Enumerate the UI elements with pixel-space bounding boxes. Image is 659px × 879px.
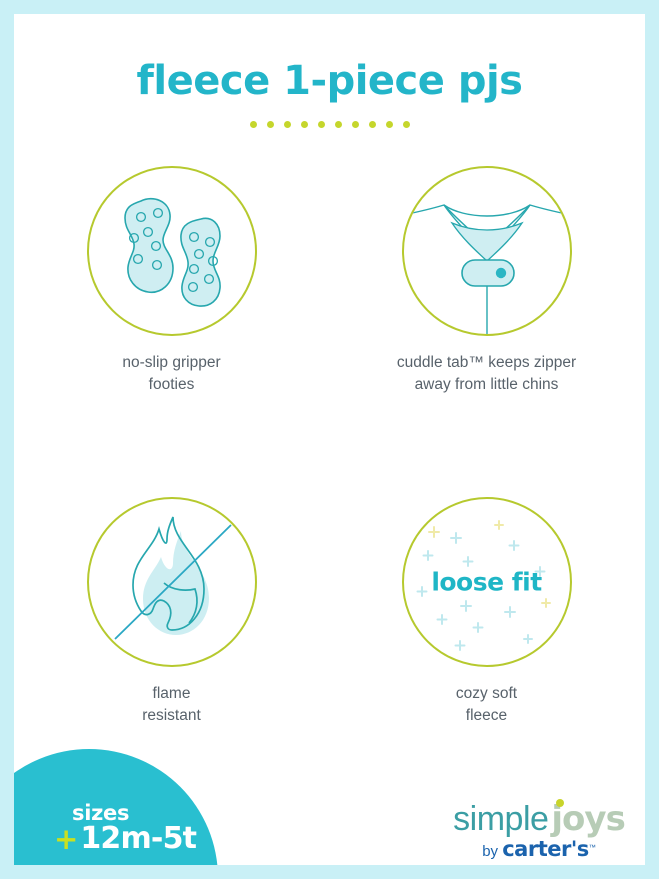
trademark-icon: ™ [589,845,596,852]
no-flame-icon [89,499,255,665]
divider-dot [403,121,410,128]
divider-dot [301,121,308,128]
feature-cozy-soft-fleece: loose fit cozy soft fleece [329,497,644,728]
logo-wordmark: simplejoys [453,802,625,836]
cuddle-tab-collar-icon [404,168,570,334]
sizes-value: 12m-5t [80,824,196,854]
gripper-footies-icon [89,168,255,334]
feature-cuddle-tab: cuddle tab™ keeps zipper away from littl… [329,166,644,397]
plus-icon: + [54,825,78,854]
logo-byline: by carter's™ [444,839,634,860]
divider-dot [369,121,376,128]
feature-caption: flame resistant [142,683,201,728]
divider-dot [386,121,393,128]
logo-carters-text: carter's [502,837,589,861]
feature-gripper-footies: no-slip gripper footies [14,166,329,397]
divider-dot [250,121,257,128]
logo-by-text: by [482,843,502,860]
sizes-badge-text: sizes + 12m-5t [54,801,224,854]
feature-row-top: no-slip gripper footies [14,166,645,397]
feature-flame-resistant: flame resistant [14,497,329,728]
divider-dot [267,121,274,128]
feature-icon-circle [87,166,257,336]
feature-caption: cozy soft fleece [456,683,517,728]
feature-caption: cuddle tab™ keeps zipper away from littl… [397,352,576,397]
sizes-range: + 12m-5t [54,824,224,854]
feature-icon-circle [87,497,257,667]
divider-dot [335,121,342,128]
feature-icon-circle: loose fit [402,497,572,667]
feature-caption: no-slip gripper footies [122,352,220,397]
feature-icon-circle [402,166,572,336]
divider-dot [284,121,291,128]
feature-row-bottom: flame resistant [14,497,645,728]
poster-content: fleece 1-piece pjs [14,14,645,865]
poster-frame: fleece 1-piece pjs [0,0,659,879]
page-title: fleece 1-piece pjs [14,58,645,104]
brand-logo: simplejoys by carter's™ [444,802,634,860]
feature-grid: no-slip gripper footies [14,166,645,728]
divider-dot [352,121,359,128]
dot-divider [14,121,645,128]
divider-dot [318,121,325,128]
loose-fit-label: loose fit [404,567,570,596]
logo-simple-text: simple [453,800,548,838]
